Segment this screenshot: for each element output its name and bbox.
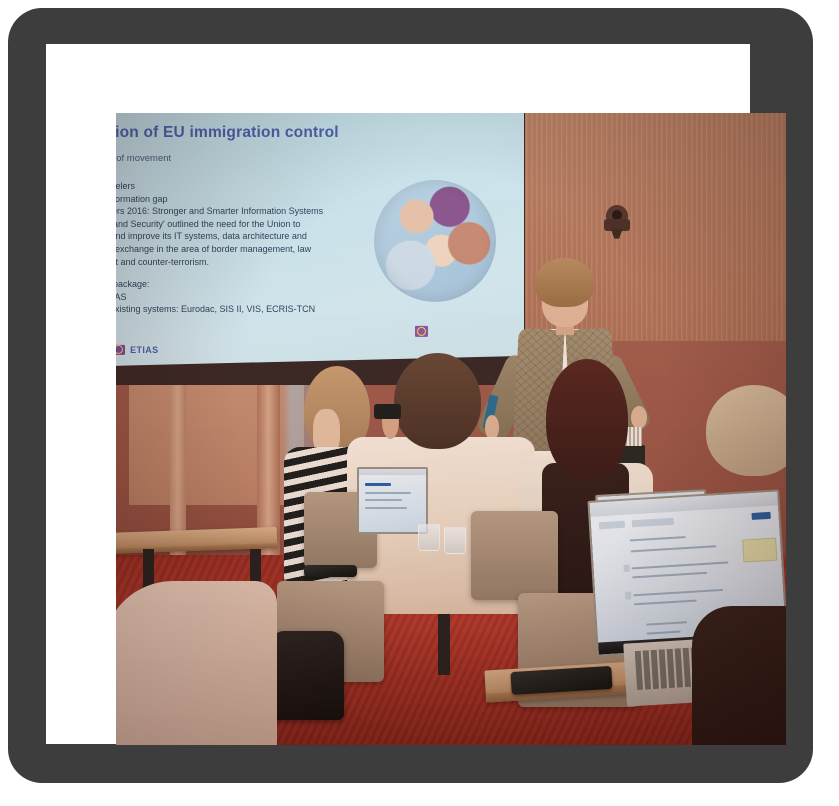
- slide-bullet-block-1: e travelers he information gap Borders 2…: [116, 180, 383, 268]
- chair: [471, 511, 558, 599]
- photo-outer-frame: zation of EU immigration control ance of…: [8, 8, 813, 783]
- sticky-note: [742, 537, 777, 562]
- drinking-glass: [418, 524, 440, 551]
- eu-flag-icon: [116, 345, 125, 355]
- slide-bullet: bility: [116, 316, 383, 329]
- slide-bullet: hen and improve its IT systems, data arc…: [116, 230, 383, 243]
- presentation-slide: zation of EU immigration control ance of…: [116, 113, 525, 366]
- slide-bullet: ement and counter-terrorism.: [116, 255, 383, 268]
- attendee-foreground-right: [692, 606, 786, 745]
- slide-bullet: Borders 2016: Stronger and Smarter Infor…: [116, 205, 383, 218]
- slide-bullet: ders and Security' outlined the need for…: [116, 218, 383, 231]
- conference-room-photograph: zation of EU immigration control ance of…: [116, 113, 786, 745]
- ptz-camera-icon: [602, 205, 632, 239]
- slide-bullet: s to existing systems: Eurodac, SIS II, …: [116, 303, 383, 316]
- slide-bullet: he information gap: [116, 193, 383, 206]
- slide-title: zation of EU immigration control: [116, 124, 525, 142]
- slide-bullet: e travelers: [116, 180, 383, 193]
- backpack-on-floor: [270, 631, 344, 719]
- slide-circular-photo: [375, 180, 497, 302]
- etias-logo-text: ETIAS: [130, 345, 159, 355]
- drinking-glass: [444, 527, 466, 554]
- projection-screen: zation of EU immigration control ance of…: [116, 113, 525, 385]
- slide-bullet: ation exchange in the area of border man…: [116, 243, 383, 256]
- slide-subtitle: ance of movement: [116, 153, 171, 164]
- slide-bullet: d ETIAS: [116, 291, 383, 304]
- slide-footer: | ETIAS: [116, 345, 159, 355]
- photo-white-mat: zation of EU immigration control ance of…: [46, 44, 750, 744]
- smartphone-row1[interactable]: [304, 565, 358, 577]
- presenter-hair: [535, 258, 594, 306]
- slide-bullet-block-2: ders package: d ETIAS s to existing syst…: [116, 278, 383, 328]
- attendee-foreground-left-shoulder: [116, 581, 277, 745]
- slide-bullet: ders package:: [116, 278, 383, 291]
- slide-eu-mini-logo: [416, 326, 429, 337]
